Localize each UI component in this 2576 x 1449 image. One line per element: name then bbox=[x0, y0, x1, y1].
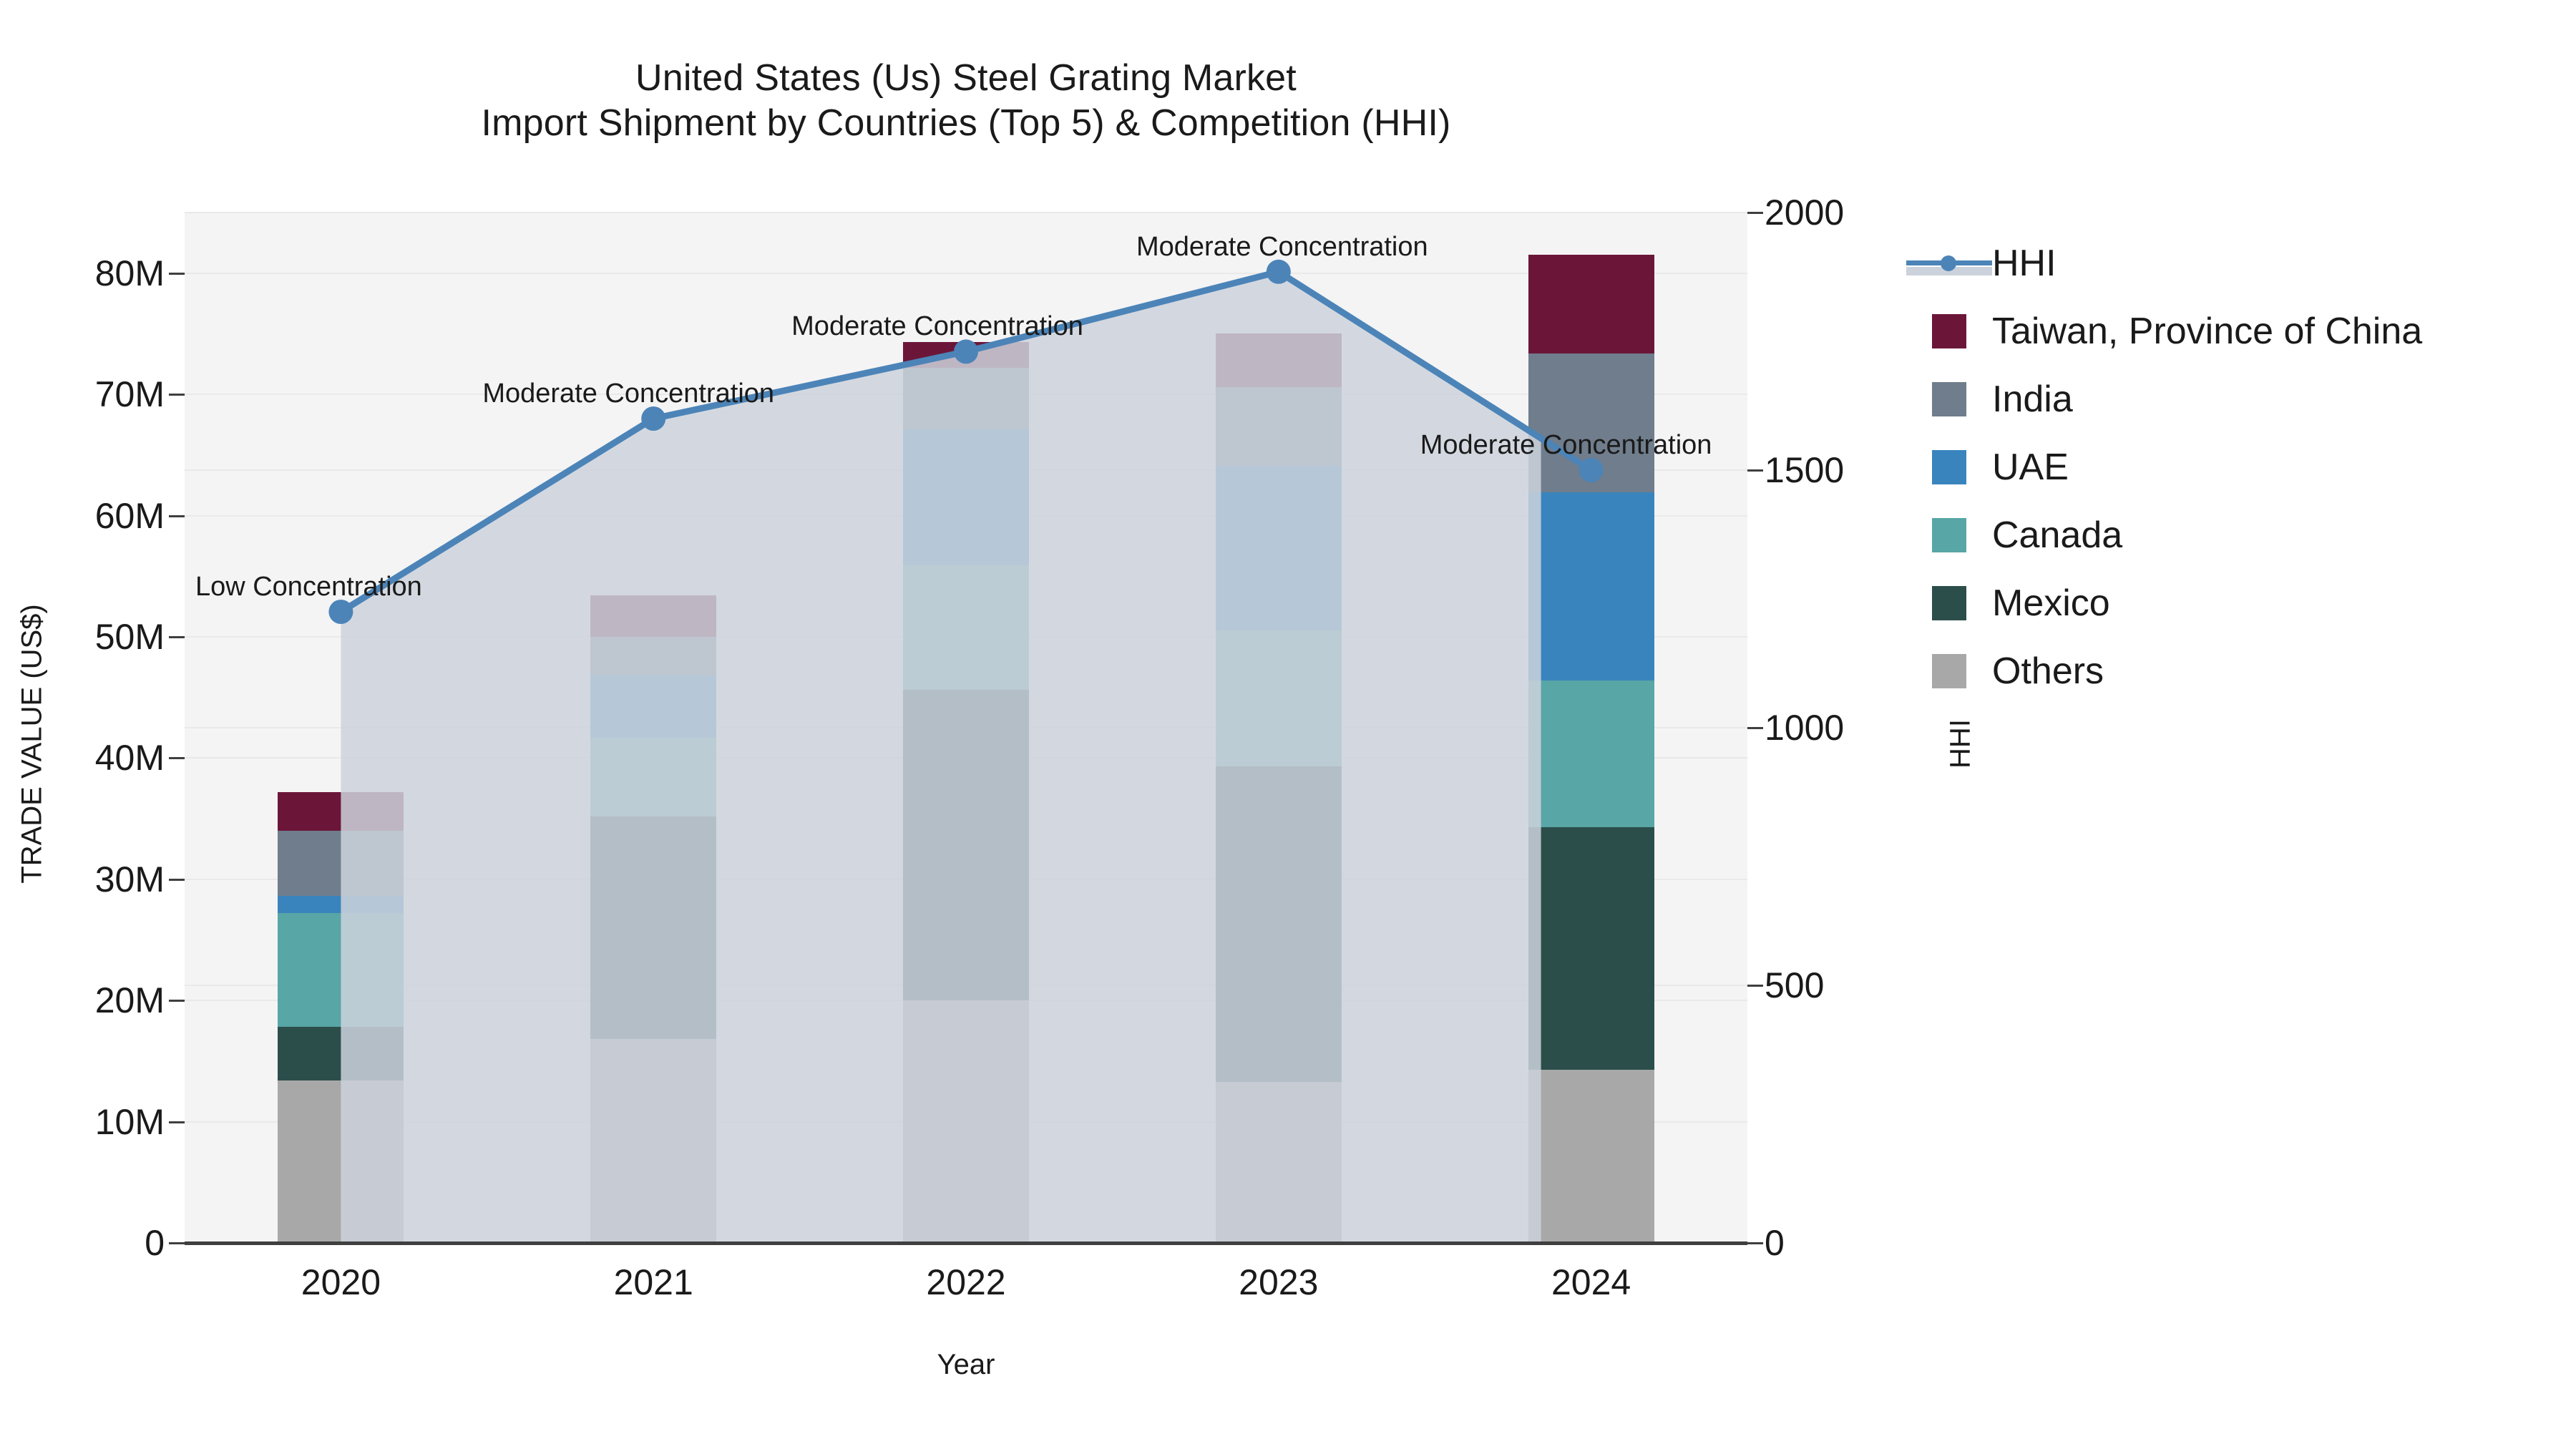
x-axis-tick-label: 2024 bbox=[1551, 1262, 1631, 1303]
legend-item-india[interactable]: India bbox=[1932, 365, 2562, 433]
y-axis-left-tick bbox=[169, 1242, 185, 1244]
legend-item-label: Taiwan, Province of China bbox=[1992, 310, 2422, 353]
x-axis-tick-label: 2021 bbox=[614, 1262, 693, 1303]
legend-color-swatch bbox=[1932, 314, 1966, 348]
legend-item-others[interactable]: Others bbox=[1932, 637, 2562, 705]
y-axis-right-tick-label: 2000 bbox=[1765, 192, 1979, 233]
y-axis-left-tick bbox=[169, 1121, 185, 1123]
y-axis-left-tick bbox=[169, 1000, 185, 1002]
legend-item-label: HHI bbox=[1992, 242, 2057, 285]
plot-area bbox=[185, 213, 1747, 1243]
y-axis-left-tick bbox=[169, 394, 185, 396]
y-axis-left-tick bbox=[169, 515, 185, 517]
legend-color-swatch bbox=[1932, 518, 1966, 552]
chart-title: United States (Us) Steel Grating Market … bbox=[0, 56, 1932, 147]
legend-color-swatch bbox=[1932, 450, 1966, 484]
legend-line-icon bbox=[1906, 246, 1992, 280]
legend-item-mexico[interactable]: Mexico bbox=[1932, 569, 2562, 637]
y-axis-right-tick bbox=[1747, 985, 1763, 987]
y-axis-left-tick-label: 0 bbox=[0, 1222, 165, 1264]
y-axis-right-tick bbox=[1747, 727, 1763, 729]
y-axis-right-tick-label: 0 bbox=[1765, 1222, 1979, 1264]
x-axis-tick-label: 2022 bbox=[926, 1262, 1005, 1303]
y-axis-left-tick-label: 20M bbox=[0, 980, 165, 1021]
legend-item-label: Others bbox=[1992, 650, 2104, 693]
concentration-annotation: Moderate Concentration bbox=[791, 311, 1083, 342]
y-axis-left-tick-label: 10M bbox=[0, 1101, 165, 1143]
legend-item-label: UAE bbox=[1992, 446, 2069, 489]
legend-item-uae[interactable]: UAE bbox=[1932, 433, 2562, 501]
x-axis-line bbox=[185, 1241, 1747, 1245]
y-axis-right-tick bbox=[1747, 469, 1763, 472]
y-axis-left-tick-label: 80M bbox=[0, 253, 165, 294]
y-axis-left-tick-label: 60M bbox=[0, 495, 165, 537]
x-axis-tick-label: 2020 bbox=[301, 1262, 381, 1303]
hhi-data-point[interactable] bbox=[641, 406, 665, 431]
legend: HHITaiwan, Province of ChinaIndiaUAECana… bbox=[1932, 229, 2562, 705]
hhi-data-point[interactable] bbox=[1579, 458, 1604, 482]
y-axis-left-title: TRADE VALUE (US$) bbox=[16, 558, 49, 930]
chart-title-line-1: United States (Us) Steel Grating Market bbox=[0, 56, 1932, 101]
legend-color-swatch bbox=[1932, 654, 1966, 688]
legend-item-label: Canada bbox=[1992, 514, 2122, 557]
legend-item-canada[interactable]: Canada bbox=[1932, 501, 2562, 569]
hhi-line-series bbox=[185, 213, 1747, 1243]
legend-color-swatch bbox=[1932, 586, 1966, 620]
y-axis-left-tick bbox=[169, 273, 185, 275]
hhi-data-point[interactable] bbox=[328, 600, 353, 624]
chart-figure: United States (Us) Steel Grating Market … bbox=[0, 0, 2576, 1449]
y-axis-right-tick-label: 500 bbox=[1765, 965, 1979, 1006]
y-axis-right-tick bbox=[1747, 212, 1763, 214]
legend-item-label: Mexico bbox=[1992, 582, 2110, 625]
concentration-annotation: Moderate Concentration bbox=[1420, 430, 1712, 461]
concentration-annotation: Low Concentration bbox=[195, 572, 422, 602]
chart-title-line-2: Import Shipment by Countries (Top 5) & C… bbox=[0, 101, 1932, 146]
y-axis-right-tick bbox=[1747, 1242, 1763, 1244]
concentration-annotation: Moderate Concentration bbox=[1136, 232, 1428, 263]
x-axis-tick-label: 2023 bbox=[1239, 1262, 1318, 1303]
y-axis-left-tick bbox=[169, 879, 185, 881]
legend-item-hhi[interactable]: HHI bbox=[1932, 229, 2562, 297]
concentration-annotation: Moderate Concentration bbox=[482, 379, 774, 409]
legend-item-taiwan-province-of-china[interactable]: Taiwan, Province of China bbox=[1932, 297, 2562, 365]
legend-item-label: India bbox=[1992, 378, 2073, 421]
x-axis-title: Year bbox=[185, 1349, 1747, 1381]
hhi-data-point[interactable] bbox=[1267, 260, 1291, 284]
hhi-data-point[interactable] bbox=[954, 339, 978, 364]
legend-color-swatch bbox=[1932, 382, 1966, 416]
y-axis-left-tick-label: 70M bbox=[0, 374, 165, 415]
y-axis-left-tick bbox=[169, 757, 185, 759]
y-axis-left-tick bbox=[169, 636, 185, 638]
